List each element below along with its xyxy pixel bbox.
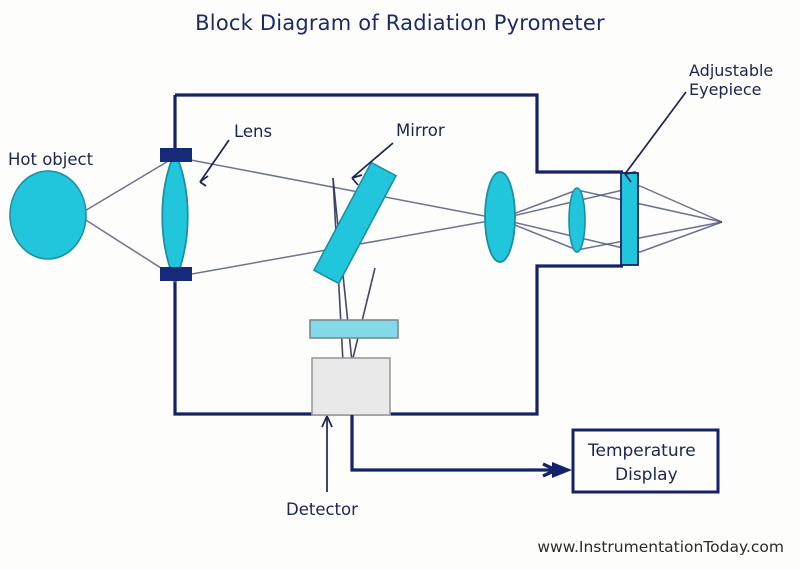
hot-object[interactable] bbox=[10, 171, 86, 259]
lens-mount-bottom bbox=[160, 267, 192, 281]
adjustable-eyepiece-leader bbox=[625, 92, 686, 182]
field-lens[interactable] bbox=[485, 172, 515, 262]
detector[interactable] bbox=[312, 358, 390, 415]
adjustable-eyepiece-label-line1: Adjustable bbox=[689, 61, 773, 80]
watermark: www.InstrumentationToday.com bbox=[537, 538, 784, 556]
hot-object-label: Hot object bbox=[8, 150, 94, 169]
objective-lens[interactable] bbox=[162, 152, 188, 281]
lens-mount-top bbox=[160, 148, 192, 162]
diagram-canvas: Block Diagram of Radiation Pyrometer bbox=[0, 0, 800, 570]
optical-filter[interactable] bbox=[310, 320, 398, 338]
adjustable-eyepiece[interactable] bbox=[621, 173, 638, 265]
temperature-display-label-line1: Temperature bbox=[587, 441, 696, 461]
signal-line-to-display bbox=[352, 415, 572, 478]
ray-bundle-object-to-lens bbox=[78, 157, 175, 277]
adjustable-eyepiece-label-line2: Eyepiece bbox=[689, 80, 762, 99]
page-title: Block Diagram of Radiation Pyrometer bbox=[195, 11, 605, 35]
mirror-label: Mirror bbox=[396, 121, 445, 140]
temperature-display-label-line2: Display bbox=[615, 465, 678, 485]
eyepiece-lens[interactable] bbox=[569, 188, 585, 252]
radiation-pyrometer-diagram: Block Diagram of Radiation Pyrometer bbox=[0, 0, 800, 570]
lens-label: Lens bbox=[234, 122, 272, 141]
ray-bundle-eyepiece bbox=[500, 186, 722, 252]
detector-label: Detector bbox=[286, 500, 358, 519]
enclosure-outline bbox=[175, 95, 623, 414]
detector-leader bbox=[322, 416, 332, 492]
